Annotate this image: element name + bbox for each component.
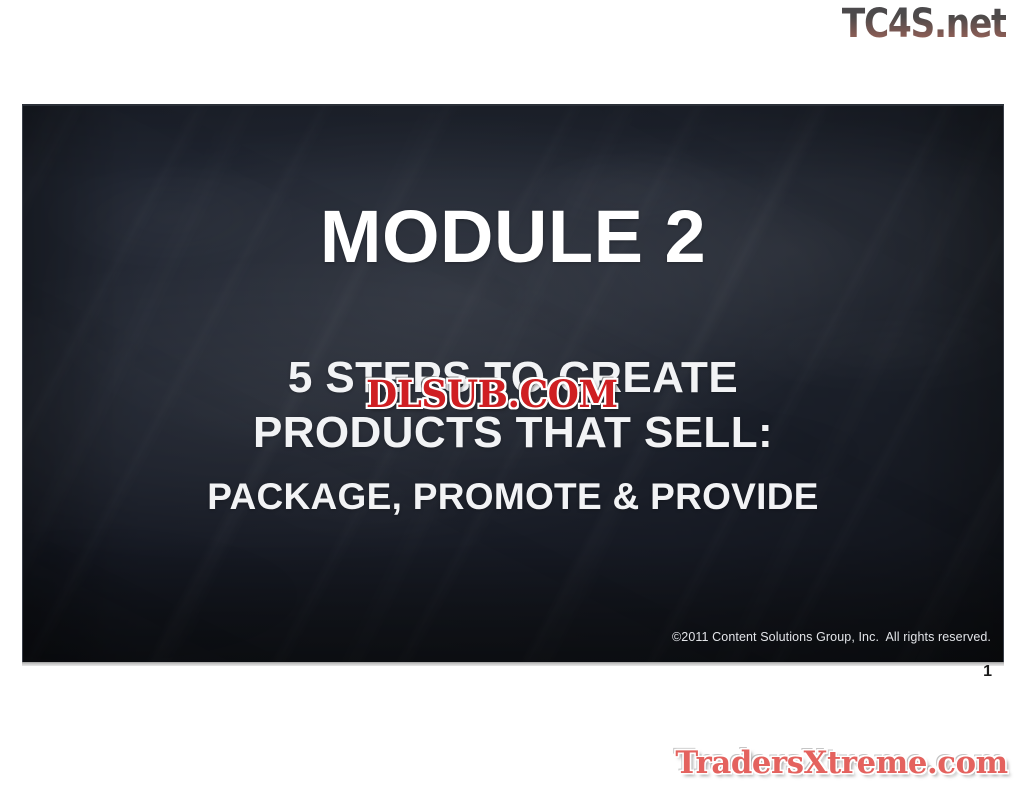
- tradersxtreme-brand-logo[interactable]: TradersXtreme.com: [676, 745, 1008, 781]
- page-number: 1: [983, 663, 992, 681]
- slide-bottom-edge: [22, 662, 1004, 666]
- copyright-notice: ©2011 Content Solutions Group, Inc. All …: [672, 630, 991, 644]
- subtitle-line-3: PACKAGE, PROMOTE & PROVIDE: [23, 468, 1003, 526]
- tc4s-brand-logo[interactable]: TC4S.net: [842, 2, 1006, 46]
- slide-title: MODULE 2: [23, 194, 1003, 280]
- dlsub-watermark: DLSUB.COM: [366, 374, 618, 414]
- presentation-page: { "page": { "background_color": "#ffffff…: [0, 0, 1024, 791]
